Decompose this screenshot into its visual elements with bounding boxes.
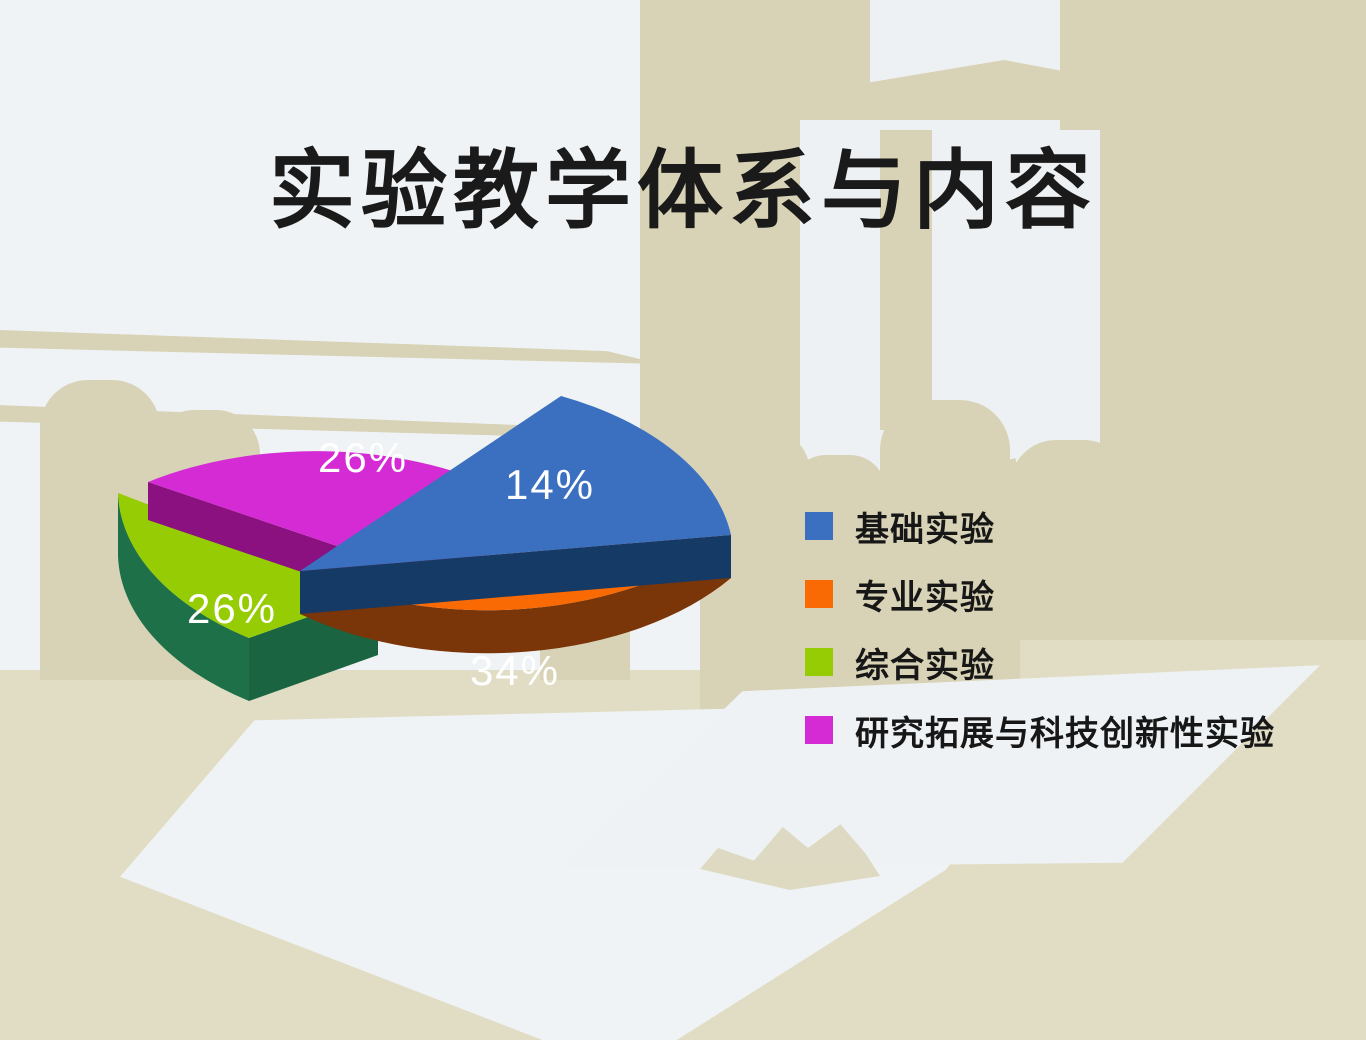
legend-item-comprehensive[interactable]: 综合实验 — [805, 628, 1325, 696]
pie-label-basic: 14% — [505, 461, 595, 508]
legend-item-basic[interactable]: 基础实验 — [805, 492, 1325, 560]
pie-label-research: 26% — [318, 434, 408, 481]
pie-label-professional: 34% — [470, 647, 560, 694]
pie-chart: 26% 26% 14% 34% — [110, 360, 750, 830]
legend-swatch-professional-icon — [805, 580, 833, 608]
legend-label-professional: 专业实验 — [855, 570, 995, 619]
legend-label-basic: 基础实验 — [855, 502, 995, 551]
legend-label-research: 研究拓展与科技创新性实验 — [855, 706, 1275, 755]
pie-chart-svg: 26% 26% 14% 34% — [110, 360, 750, 830]
chart-legend: 基础实验 专业实验 综合实验 研究拓展与科技创新性实验 — [805, 492, 1325, 764]
legend-item-professional[interactable]: 专业实验 — [805, 560, 1325, 628]
presentation-slide: 实验教学体系与内容 — [0, 0, 1366, 1040]
legend-item-research[interactable]: 研究拓展与科技创新性实验 — [805, 696, 1325, 764]
legend-swatch-basic-icon — [805, 512, 833, 540]
legend-label-comprehensive: 综合实验 — [855, 638, 995, 687]
page-title: 实验教学体系与内容 — [0, 120, 1366, 245]
background-shape-post — [800, 0, 870, 120]
legend-swatch-comprehensive-icon — [805, 648, 833, 676]
legend-swatch-research-icon — [805, 716, 833, 744]
pie-label-comprehensive: 26% — [187, 585, 277, 632]
